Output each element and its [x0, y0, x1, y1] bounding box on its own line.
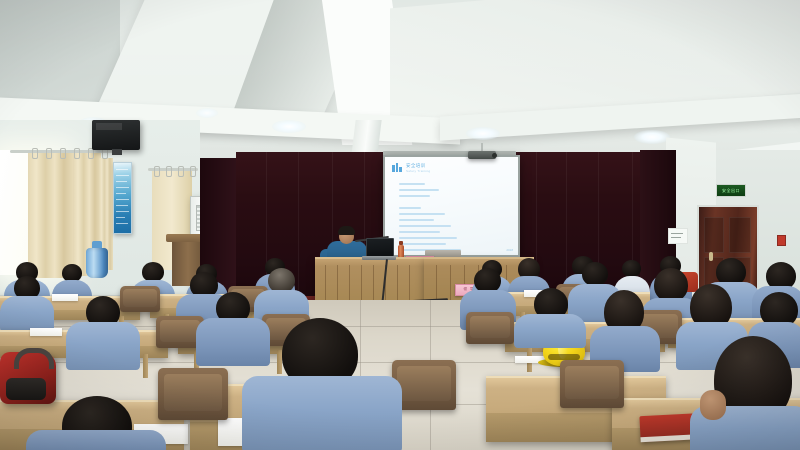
audience-person-torso — [66, 322, 140, 370]
laptop-keyboard[interactable] — [362, 256, 396, 260]
backpack-pocket — [6, 378, 46, 400]
presenter-hair — [338, 226, 355, 235]
audience-chair[interactable] — [466, 312, 514, 344]
curtain-rod — [10, 150, 120, 153]
window-curtain — [28, 150, 74, 278]
audience-person-head — [654, 268, 688, 302]
audience-person-torso — [196, 318, 270, 366]
audience-chair[interactable] — [560, 360, 624, 408]
training-room-photo: 安全出口 安全培训 Safety Training — [0, 0, 800, 450]
slide-title: 安全培训 — [406, 164, 426, 169]
projector-lens-icon — [492, 153, 497, 158]
fire-alarm-box[interactable] — [777, 235, 786, 246]
wall-mounted-monitor — [92, 120, 140, 150]
handout-paper — [30, 328, 62, 336]
ceiling-light-icon — [272, 120, 306, 133]
information-board — [113, 162, 132, 234]
audience-person-head — [582, 262, 608, 286]
monitor-bracket — [112, 149, 122, 155]
audience-chair[interactable] — [120, 286, 160, 312]
backpack-strap — [14, 348, 54, 369]
slide-subtitle: Safety Training — [406, 170, 431, 173]
door-handle[interactable] — [709, 252, 713, 261]
audience-chair[interactable] — [158, 368, 228, 420]
handout-paper — [52, 294, 78, 301]
curtain-rod — [148, 168, 198, 171]
ceiling-light-icon — [634, 130, 670, 144]
ceiling-light-icon — [196, 108, 218, 118]
slide-surface: 安全培训 Safety Training 2018 — [385, 157, 518, 255]
exit-sign-label: 安全出口 — [722, 189, 740, 193]
audience-person-torso — [0, 296, 54, 332]
exit-sign: 安全出口 — [716, 184, 746, 197]
audience-person-torso-foreground — [242, 376, 402, 450]
company-logo-icon — [392, 163, 403, 172]
projection-screen: 安全培训 Safety Training 2018 — [383, 155, 520, 257]
slide-footer: 2018 — [506, 248, 513, 252]
wall-notice-placard — [668, 228, 688, 244]
ceiling-light-icon — [466, 127, 500, 140]
audience-person-torso — [514, 314, 586, 348]
screen-reflection — [96, 123, 122, 130]
audience-person-torso-foreground — [26, 430, 166, 450]
audience-person-hand — [700, 390, 726, 420]
